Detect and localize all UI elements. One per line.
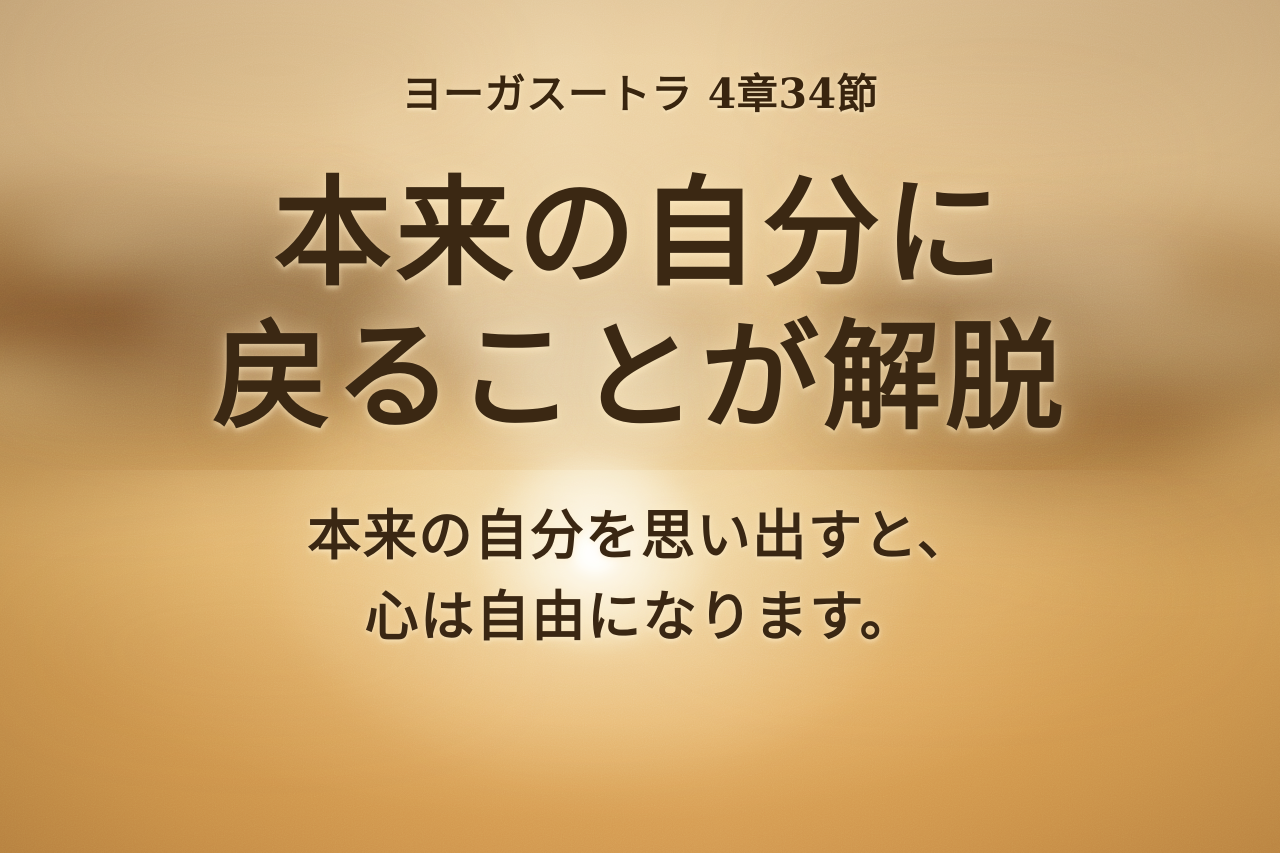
source-citation: ヨーガスートラ 4章34節 [402,74,879,115]
quote-card: ヨーガスートラ 4章34節 本来の自分に 戻ることが解脱 本来の自分を思い出すと… [0,0,1280,853]
subtitle-line-2: 心は自由になります。 [307,576,972,657]
subtitle-line-1: 本来の自分を思い出すと、 [307,495,972,576]
headline: 本来の自分に 戻ることが解脱 [213,161,1068,449]
subtitle: 本来の自分を思い出すと、 心は自由になります。 [307,495,972,657]
quote-text-block: ヨーガスートラ 4章34節 本来の自分に 戻ることが解脱 本来の自分を思い出すと… [0,0,1280,853]
headline-line-1: 本来の自分に [213,161,1068,305]
headline-line-2: 戻ることが解脱 [213,305,1068,449]
